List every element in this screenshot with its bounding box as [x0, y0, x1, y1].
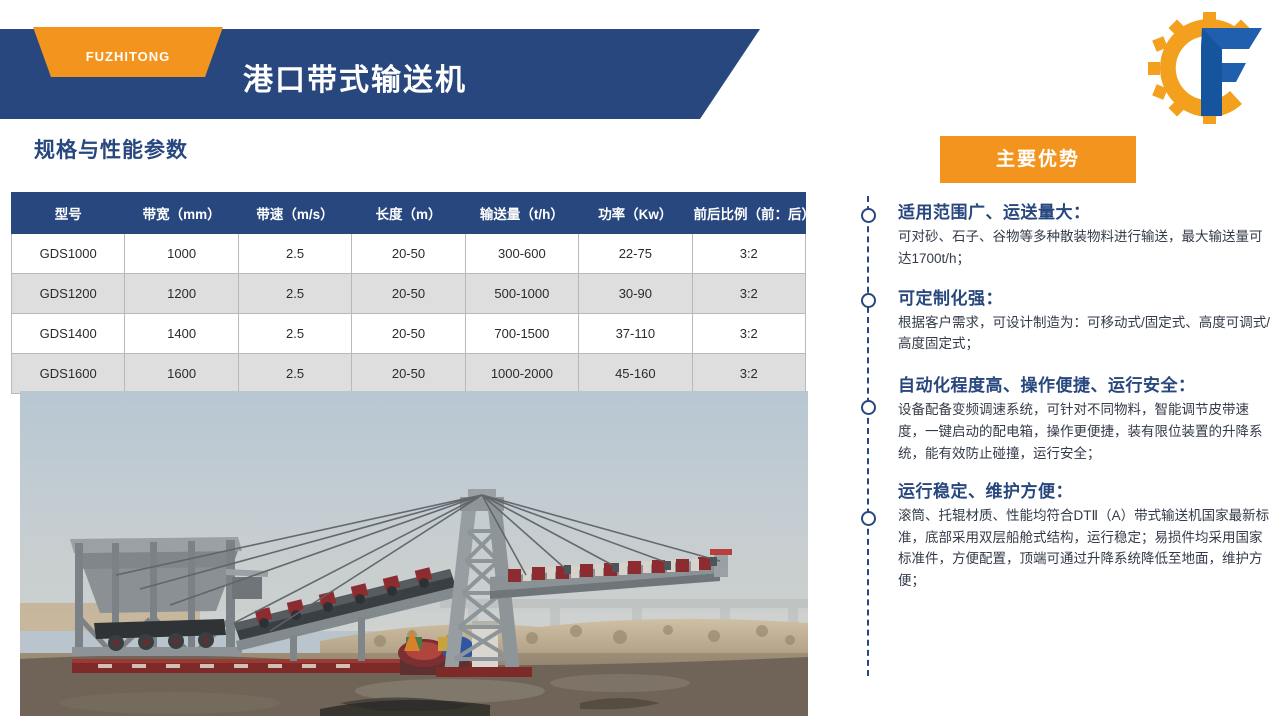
timeline-dot-icon: [861, 511, 876, 526]
section-title: 规格与性能参数: [34, 138, 188, 163]
cell-model: GDS1000: [12, 234, 125, 274]
cell-ratio: 3:2: [692, 274, 805, 314]
cell-belt-width: 1000: [125, 234, 238, 274]
gear-c-f-logo-icon: [1146, 12, 1272, 124]
cell-ratio: 3:2: [692, 314, 805, 354]
cell-capacity: 300-600: [465, 234, 578, 274]
advantage-title: 适用范围广、运送量大：: [898, 202, 1270, 225]
product-photo: [20, 391, 808, 716]
column-header-belt-width: 带宽（mm）: [125, 193, 238, 234]
cell-belt-speed: 2.5: [238, 314, 351, 354]
table-row: GDS1000 1000 2.5 20-50 300-600 22-75 3:2: [12, 234, 806, 274]
table-row: GDS1200 1200 2.5 20-50 500-1000 30-90 3:…: [12, 274, 806, 314]
advantage-item-1: 适用范围广、运送量大： 可对砂、石子、谷物等多种散装物料进行输送，最大输送量可达…: [850, 202, 1270, 270]
spec-table: 型号 带宽（mm） 带速（m/s） 长度（m） 输送量（t/h） 功率（Kw） …: [11, 192, 806, 394]
advantage-item-2: 可定制化强： 根据客户需求，可设计制造为：可移动式/固定式、高度可调式/高度固定…: [850, 288, 1270, 356]
timeline-dot-icon: [861, 208, 876, 223]
cell-capacity: 700-1500: [465, 314, 578, 354]
cell-belt-speed: 2.5: [238, 354, 351, 394]
advantage-body: 可对砂、石子、谷物等多种散装物料进行输送，最大输送量可达1700t/h；: [898, 226, 1270, 270]
cell-ratio: 3:2: [692, 234, 805, 274]
column-header-capacity: 输送量（t/h）: [465, 193, 578, 234]
advantages-badge-label: 主要优势: [940, 150, 1136, 169]
cell-length: 20-50: [352, 314, 465, 354]
cell-model: GDS1600: [12, 354, 125, 394]
advantage-title: 自动化程度高、操作便捷、运行安全：: [898, 375, 1270, 398]
timeline-dot-icon: [861, 293, 876, 308]
table-row: GDS1600 1600 2.5 20-50 1000-2000 45-160 …: [12, 354, 806, 394]
cell-belt-width: 1400: [125, 314, 238, 354]
cell-belt-width: 1200: [125, 274, 238, 314]
column-header-ratio: 前后比例（前：后）: [692, 193, 805, 234]
cell-belt-speed: 2.5: [238, 234, 351, 274]
advantage-title: 可定制化强：: [898, 288, 1270, 311]
advantage-body: 设备配备变频调速系统，可针对不同物料，智能调节皮带速度，一键启动的配电箱，操作更…: [898, 399, 1270, 465]
table-header-row: 型号 带宽（mm） 带速（m/s） 长度（m） 输送量（t/h） 功率（Kw） …: [12, 193, 806, 234]
cell-model: GDS1200: [12, 274, 125, 314]
cell-belt-speed: 2.5: [238, 274, 351, 314]
cell-capacity: 500-1000: [465, 274, 578, 314]
advantage-item-4: 运行稳定、维护方便： 滚筒、托辊材质、性能均符合DTⅡ（A）带式输送机国家最新标…: [850, 481, 1270, 592]
advantage-body: 滚筒、托辊材质、性能均符合DTⅡ（A）带式输送机国家最新标准，底部采用双层船舱式…: [898, 505, 1270, 592]
column-header-power: 功率（Kw）: [579, 193, 692, 234]
advantage-title: 运行稳定、维护方便：: [898, 481, 1270, 504]
cell-power: 30-90: [579, 274, 692, 314]
page-header: FUZHITONG 港口带式输送机: [0, 0, 1280, 140]
cell-length: 20-50: [352, 274, 465, 314]
cell-belt-width: 1600: [125, 354, 238, 394]
cell-length: 20-50: [352, 354, 465, 394]
cell-ratio: 3:2: [692, 354, 805, 394]
cell-power: 37-110: [579, 314, 692, 354]
cell-capacity: 1000-2000: [465, 354, 578, 394]
table-row: GDS1400 1400 2.5 20-50 700-1500 37-110 3…: [12, 314, 806, 354]
column-header-length: 长度（m）: [352, 193, 465, 234]
advantage-item-3: 自动化程度高、操作便捷、运行安全： 设备配备变频调速系统，可针对不同物料，智能调…: [850, 375, 1270, 465]
column-header-model: 型号: [12, 193, 125, 234]
cell-power: 45-160: [579, 354, 692, 394]
column-header-belt-speed: 带速（m/s）: [238, 193, 351, 234]
cell-model: GDS1400: [12, 314, 125, 354]
timeline-dot-icon: [861, 400, 876, 415]
brand-tab-label: FUZHITONG: [33, 50, 223, 63]
advantage-body: 根据客户需求，可设计制造为：可移动式/固定式、高度可调式/高度固定式；: [898, 312, 1270, 356]
advantages-list: 适用范围广、运送量大： 可对砂、石子、谷物等多种散装物料进行输送，最大输送量可达…: [850, 196, 1270, 604]
cell-length: 20-50: [352, 234, 465, 274]
product-spec-page: FUZHITONG 港口带式输送机: [0, 0, 1280, 720]
cell-power: 22-75: [579, 234, 692, 274]
page-title: 港口带式输送机: [243, 66, 467, 96]
